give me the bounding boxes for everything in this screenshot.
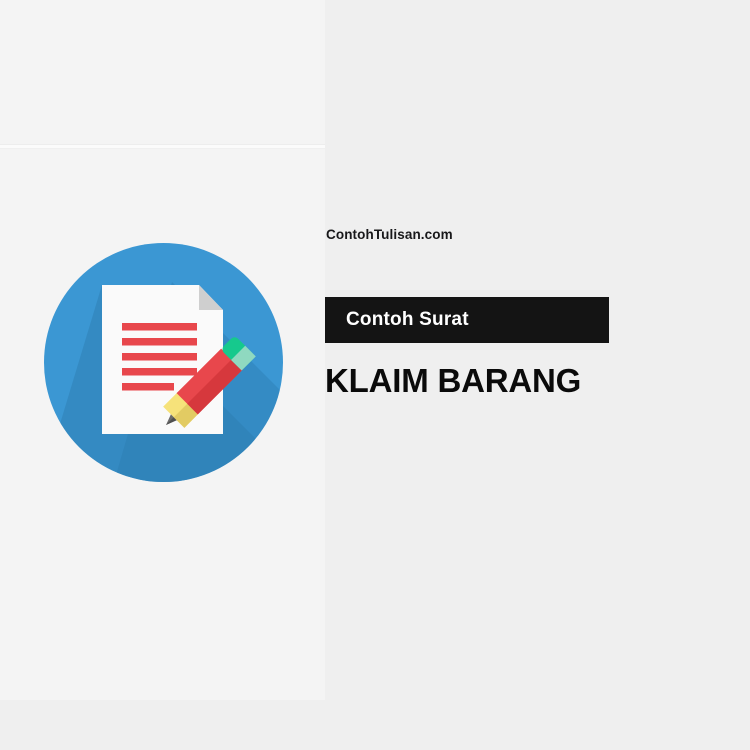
icon-text-line: [122, 353, 197, 361]
document-with-pencil-icon: [44, 243, 283, 482]
left-header-panel: [0, 0, 325, 144]
icon-text-line: [122, 368, 197, 376]
category-banner-label: Contoh Surat: [346, 309, 469, 331]
icon-text-line: [122, 323, 197, 331]
site-name: ContohTulisan.com: [326, 227, 453, 242]
category-banner: Contoh Surat: [325, 297, 609, 343]
page-title: KLAIM BARANG: [325, 362, 581, 400]
icon-text-line: [122, 383, 174, 391]
icon-text-line: [122, 338, 197, 346]
panel-divider: [0, 144, 325, 149]
page-root: ContohTulisan.com Contoh Surat KLAIM BAR…: [0, 0, 750, 750]
